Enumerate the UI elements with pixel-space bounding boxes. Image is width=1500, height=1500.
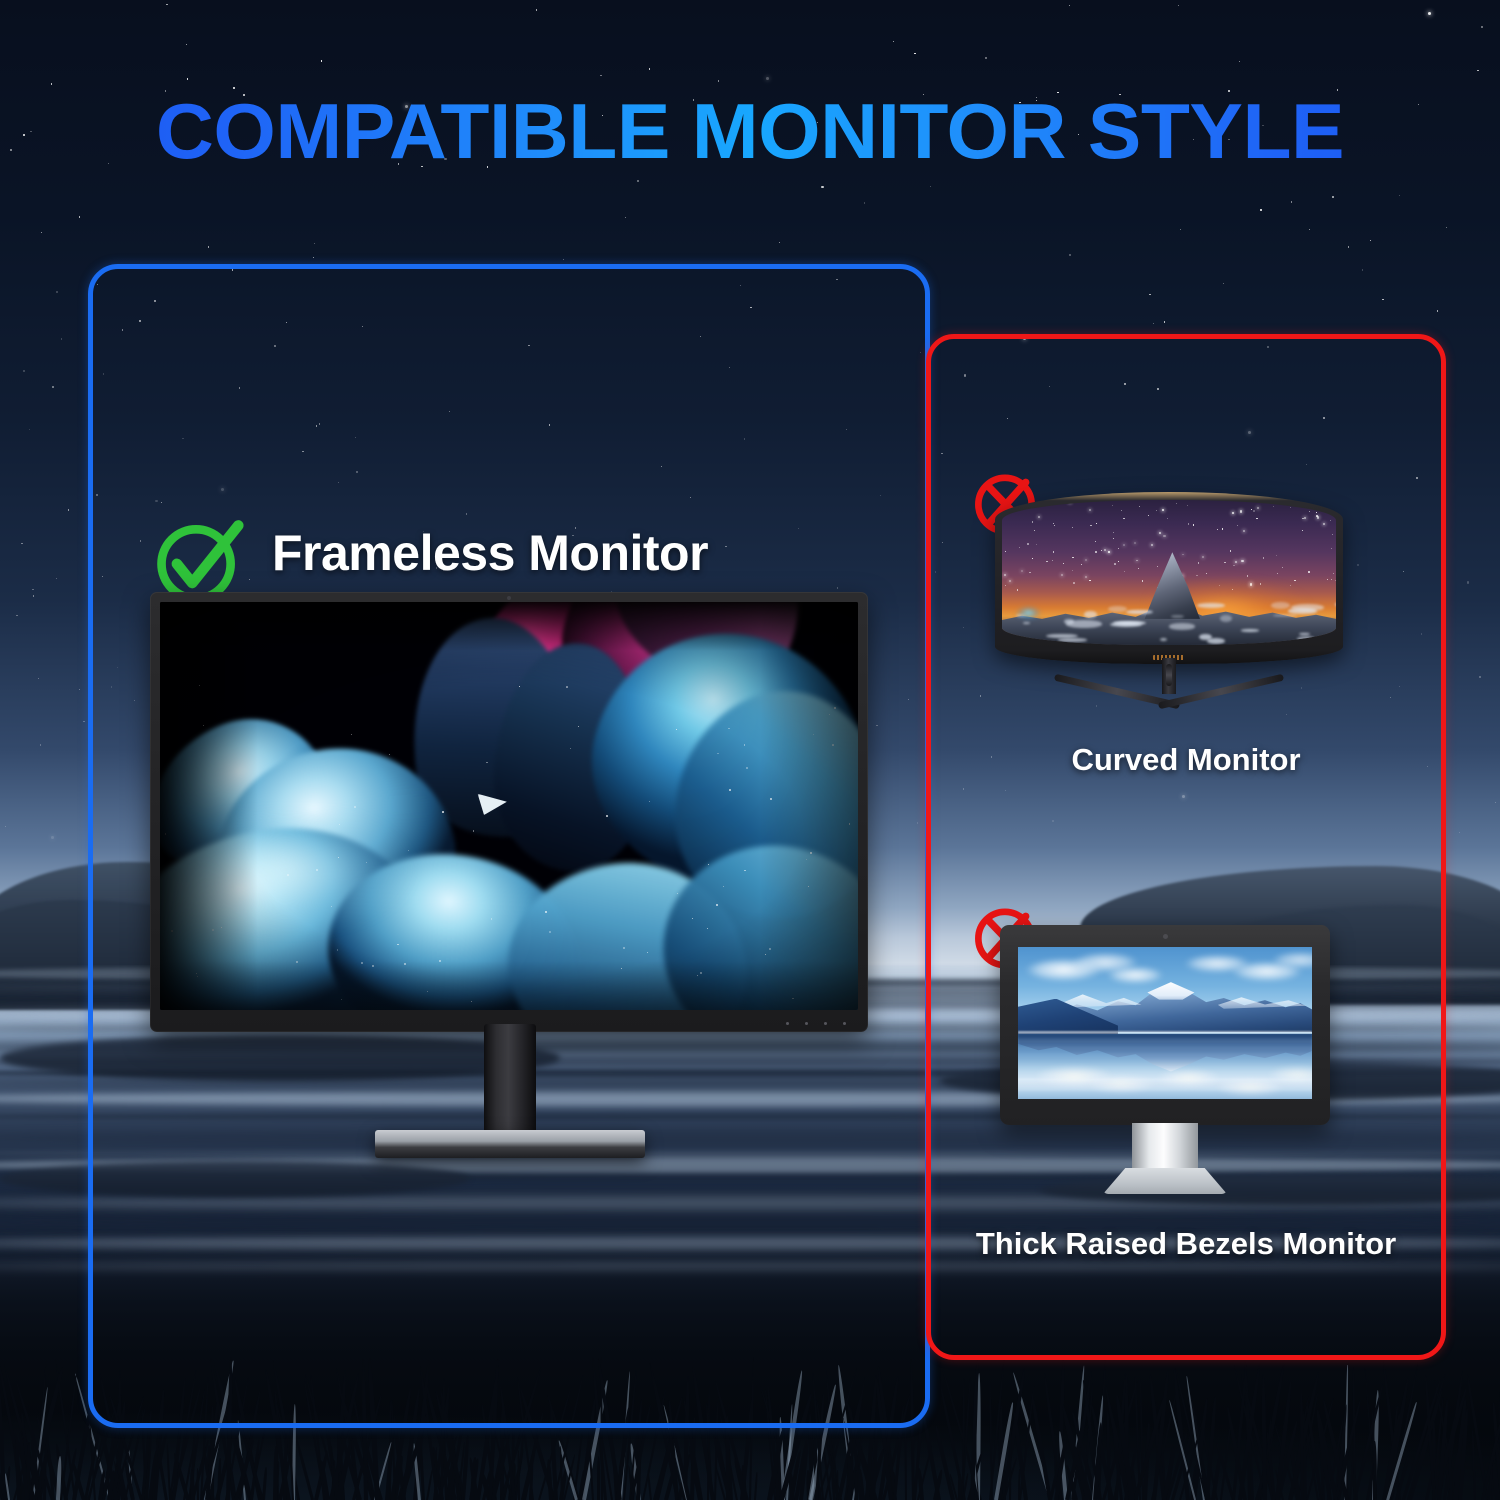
monitor-control-dots	[786, 1022, 846, 1025]
curved-monitor-label: Curved Monitor	[926, 742, 1446, 778]
thick-bezel-monitor-label: Thick Raised Bezels Monitor	[926, 1226, 1446, 1262]
curved-monitor	[995, 492, 1343, 697]
thick-bezel-monitor	[1000, 925, 1330, 1125]
thick-bezel-stand-neck	[1132, 1123, 1198, 1171]
page-title: COMPATIBLE MONITOR STYLE	[0, 88, 1500, 174]
mountain-lake-wallpaper	[1018, 947, 1312, 1099]
monitor-screen	[160, 602, 858, 1010]
webcam-dot	[1163, 934, 1168, 939]
mountain-dusk-wallpaper	[1002, 500, 1336, 645]
webcam-dot	[507, 596, 511, 600]
infographic-canvas: COMPATIBLE MONITOR STYLE Frameless Monit…	[0, 0, 1500, 1500]
curved-stand-leg-back	[1166, 664, 1172, 686]
curved-monitor-bezel	[995, 492, 1343, 664]
thick-bezel-screen	[1018, 947, 1312, 1099]
curved-monitor-screen	[1002, 500, 1336, 645]
frameless-monitor	[150, 592, 868, 1032]
monitor-stand-base	[375, 1130, 645, 1158]
compatible-label: Frameless Monitor	[272, 524, 708, 582]
flower-wallpaper	[160, 602, 858, 1010]
